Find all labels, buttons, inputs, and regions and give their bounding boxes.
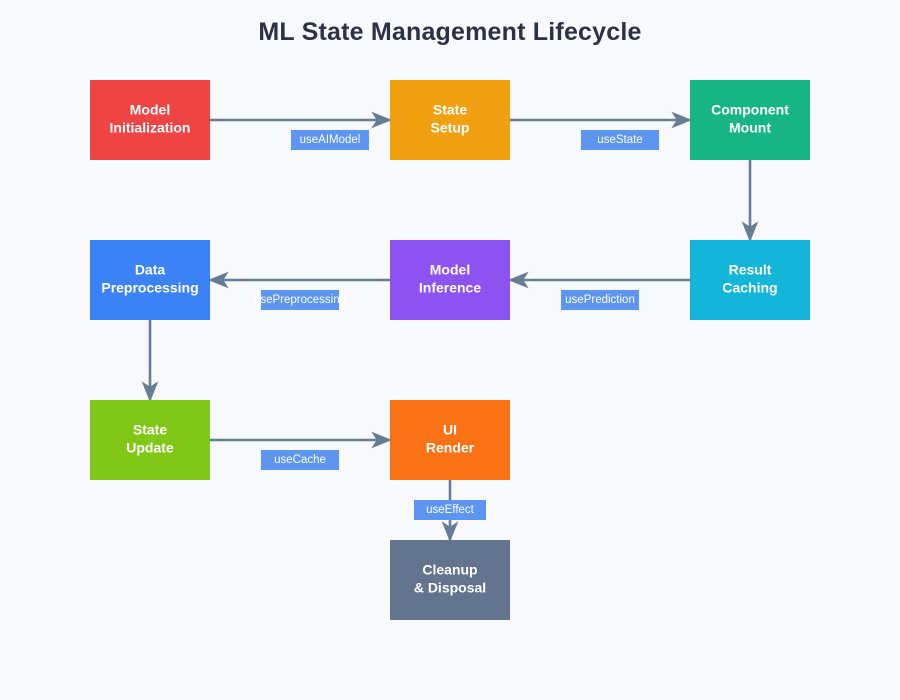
node-state-setup[interactable]: StateSetup: [390, 80, 510, 160]
node-result-caching[interactable]: ResultCaching: [690, 240, 810, 320]
node-state-update[interactable]: StateUpdate: [90, 400, 210, 480]
edge-label-edge-render-to-cleanup: useEffect: [414, 500, 486, 520]
node-label-line1: Data: [135, 262, 166, 278]
node-model-inference[interactable]: ModelInference: [390, 240, 510, 320]
node-label-line1: Model: [430, 262, 470, 278]
node-label-line2: Preprocessing: [101, 280, 198, 296]
edge-label-edge-caching-to-inference: usePrediction: [561, 290, 639, 310]
node-label-line2: & Disposal: [414, 580, 486, 596]
edge-label-text: usePrediction: [565, 294, 635, 306]
edge-label-text: usePreprocessing: [254, 294, 346, 306]
node-model-initialization[interactable]: ModelInitialization: [90, 80, 210, 160]
edge-label-edge-setup-to-mount: useState: [581, 130, 659, 150]
node-ui-render[interactable]: UIRender: [390, 400, 510, 480]
node-label-line1: State: [133, 422, 167, 438]
edge-label-text: useCache: [274, 454, 326, 466]
edge-label-edge-inference-to-preprocessing: usePreprocessing: [254, 290, 346, 310]
node-label-line1: Result: [729, 262, 772, 278]
node-label-line2: Initialization: [110, 120, 191, 136]
node-label-line1: Cleanup: [422, 562, 477, 578]
node-label-line2: Setup: [431, 120, 470, 136]
node-label-line2: Update: [126, 440, 174, 456]
edge-label-text: useState: [597, 134, 642, 146]
node-label-line1: Component: [711, 102, 789, 118]
node-label-line2: Mount: [729, 120, 771, 136]
node-component-mount[interactable]: ComponentMount: [690, 80, 810, 160]
node-label-line1: State: [433, 102, 467, 118]
edge-label-edge-init-to-setup: useAIModel: [291, 130, 369, 150]
node-label-line2: Inference: [419, 280, 481, 296]
edge-label-edge-update-to-render: useCache: [261, 450, 339, 470]
edge-label-text: useAIModel: [300, 134, 361, 146]
node-label-line1: Model: [130, 102, 170, 118]
node-label-line2: Caching: [722, 280, 777, 296]
node-data-preprocessing[interactable]: DataPreprocessing: [90, 240, 210, 320]
node-label-line1: UI: [443, 422, 457, 438]
edge-label-text: useEffect: [426, 504, 475, 516]
node-cleanup-disposal[interactable]: Cleanup& Disposal: [390, 540, 510, 620]
flowchart-canvas: ModelInitializationStateSetupComponentMo…: [0, 0, 900, 700]
node-label-line2: Render: [426, 440, 475, 456]
